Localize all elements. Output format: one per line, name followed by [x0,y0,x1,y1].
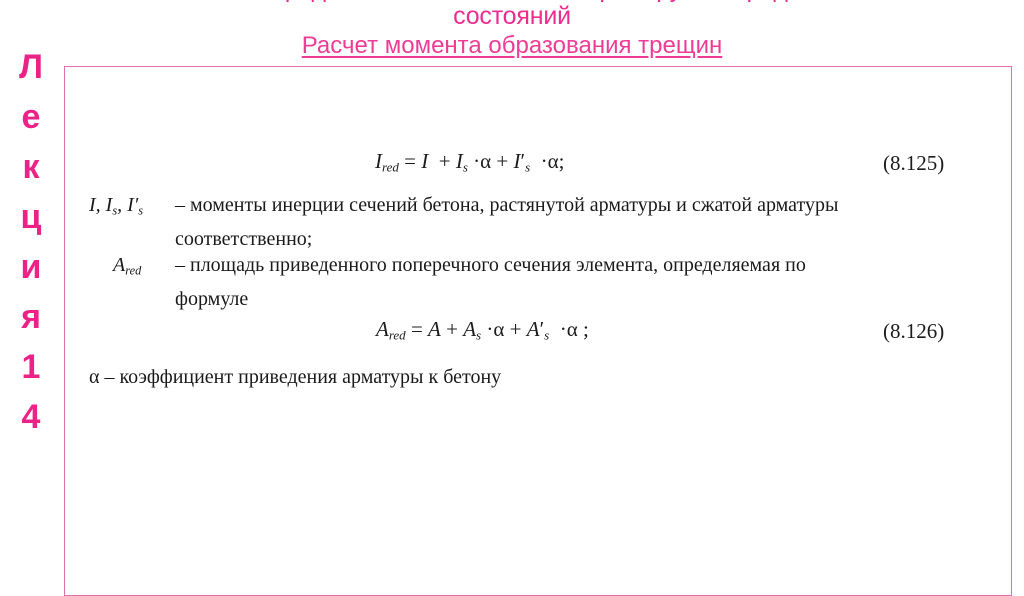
formula2-plus2: + [510,317,522,341]
formula-a-red: Ared = A + As ·α + A′s ·α ; [376,317,589,344]
formula1-term3-sub: s [525,160,530,175]
formula1-term1: I [421,149,428,173]
formula2-alpha2: α ; [567,317,589,341]
definition-alpha-coefficient: α – коэффициент приведения арматуры к бе… [89,363,789,392]
def3-text-line1: коэффициент приведения арматуры к бетону [119,363,501,392]
formula1-dot2: · [541,149,548,173]
formula2-lhs-var: A [376,317,389,341]
formula2-term1: A [428,317,441,341]
formula2-equals: = [411,317,423,341]
def2-term: Ared [113,251,175,285]
lecture-label-letter: ц [8,192,54,242]
lecture-label-letter: и [8,242,54,292]
lecture-label-letter: 4 [8,392,54,442]
formula-i-red: Ired = I + Is ·α + I′s ·α; [375,149,565,176]
formula1-alpha1: α [480,149,491,173]
formula1-equals: = [404,149,416,173]
formula1-term2-var: I [456,149,463,173]
formula1-term3-var: I [514,149,521,173]
def2-dash: – [175,251,190,280]
slide-heading-line-visible: состояний [0,3,1024,30]
equation-number-8-126: (8.126) [883,319,944,344]
formula1-plus1: + [439,149,451,173]
def1-dash: – [175,191,190,220]
lecture-label-letter: к [8,142,54,192]
def2-text-line2: формуле [113,285,991,314]
slide-heading: Расчет по предельным состояниям второй г… [0,0,1024,30]
lecture-label-letter: я [8,292,54,342]
formula1-alpha2: α; [548,149,565,173]
definition-reduced-area: Ared – площадь приведенного поперечного … [113,251,991,314]
lecture-label-letter: е [8,92,54,142]
def3-dash: – [99,363,119,392]
formula2-alpha1: α [493,317,504,341]
formula2-plus1: + [446,317,458,341]
content-box: Ired = I + Is ·α + I′s ·α; (8.125) I, Is… [64,66,1012,596]
lecture-label-letter: 1 [8,342,54,392]
formula2-term3-var: A [527,317,540,341]
formula2-term3-sub: s [544,328,549,343]
slide-subtitle: Расчет момента образования трещин [0,32,1024,59]
def1-term: I, Is, I′s [89,191,175,225]
lecture-label-letter: Л [8,42,54,92]
formula2-dot2: · [560,317,567,341]
formula2-term2-sub: s [476,328,481,343]
formula1-plus2: + [496,149,508,173]
definition-moments-of-inertia: I, Is, I′s – моменты инерции сечений бет… [89,191,991,254]
def3-term: α [89,363,99,392]
formula2-term2-var: A [463,317,476,341]
def1-text-line1: моменты инерции сечений бетона, растянут… [190,191,838,220]
formula2-lhs-sub: red [389,328,406,343]
equation-number-8-125: (8.125) [883,151,944,176]
def2-text-line1: площадь приведенного поперечного сечения… [190,251,806,280]
lecture-label-vertical: Л е к ц и я 1 4 [8,42,54,442]
formula1-term2-sub: s [463,160,468,175]
formula1-lhs-sub: red [382,160,399,175]
formula1-lhs-var: I [375,149,382,173]
